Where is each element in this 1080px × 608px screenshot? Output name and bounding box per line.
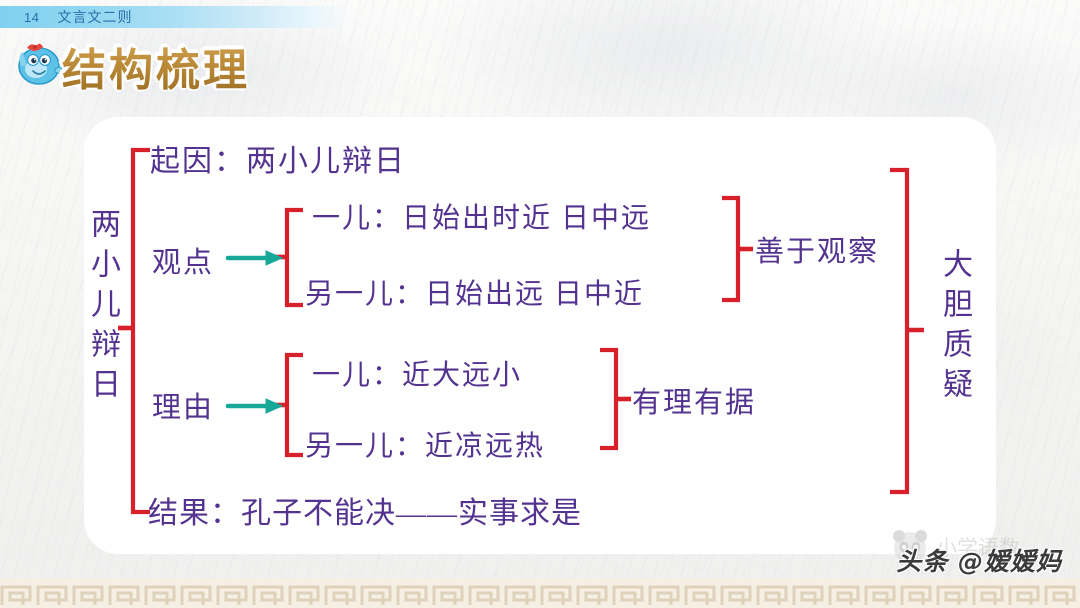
diagram-left-label: 两小儿辩日 (80, 208, 124, 408)
reason-summary: 有理有据 (632, 379, 756, 421)
blue-fish-mascot-icon (13, 36, 65, 88)
watermark-brand: 头条 @嫒嫒妈 (896, 542, 1062, 578)
diagram-right-label: 大胆质疑 (932, 248, 976, 408)
lesson-number: 14 (24, 10, 39, 25)
viewpoint-label: 观点 (152, 239, 214, 281)
lesson-title: 文言文二则 (57, 7, 132, 27)
reason-item-1: 一儿：近大远小 (312, 353, 522, 393)
page-title: 结构梳理 (62, 34, 250, 98)
slide-canvas: 14 文言文二则 结构梳理 (0, 0, 1080, 608)
result-text: 结果：孔子不能决——实事求是 (148, 488, 582, 532)
reason-label: 理由 (152, 384, 214, 426)
viewpoint-item-2: 另一儿：日始出远 日中近 (305, 272, 644, 312)
reason-item-2: 另一儿：近凉远热 (305, 424, 545, 464)
cause-text: 起因：两小儿辩日 (150, 136, 406, 180)
viewpoint-summary: 善于观察 (755, 228, 879, 270)
lesson-ribbon: 14 文言文二则 (0, 6, 348, 28)
greek-key-border (0, 578, 1080, 608)
viewpoint-item-1: 一儿：日始出时近 日中远 (312, 196, 651, 236)
